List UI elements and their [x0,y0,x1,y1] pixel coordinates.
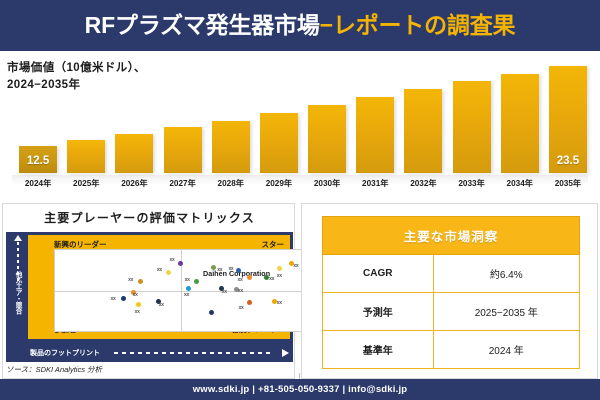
chart-bar[interactable]: 2033年 [453,81,491,173]
chart-bar[interactable]: 2029年 [260,113,298,173]
chart-bar[interactable]: 2027年 [164,127,202,173]
footer-bar: www.sdki.jp | +81-505-050-9337 | info@sd… [0,379,600,400]
bar-slot: 2033年 [453,81,491,173]
matrix-data-point-label: xx [277,273,282,279]
insights-row: CAGR約6.4% [323,255,580,293]
page-title-accent: −レポートの調査果 [320,12,516,38]
bar-slot: 2028年 [212,121,250,173]
matrix-data-point-label: xx [239,305,244,311]
chart-bar[interactable]: 2030年 [308,105,346,173]
chart-bar[interactable]: 23.52035年 [549,66,587,173]
bar-category-label: 2033年 [448,177,496,189]
source-note: ソース：SDKI Analytics 分析 [6,364,102,375]
insights-row: 基準年2024 年 [323,331,580,369]
insights-row-key: CAGR [323,255,434,293]
matrix-data-point[interactable] [209,310,214,315]
header-bar: RFプラズマ発生器市場−レポートの調査果 [0,0,600,51]
bar-chart-plot-area: 12.52024年2025年2026年2027年2028年2029年2030年2… [14,59,592,190]
insights-table-body: CAGR約6.4%予測年2025−2035 年基準年2024 年 [323,255,580,369]
matrix-data-point[interactable] [138,279,143,284]
matrix-quadrant-band: 新興のリーダー スター 参加者 普及プレーヤー Daihen Corporati… [28,235,290,339]
matrix-data-point[interactable] [166,270,171,275]
y-axis-arrow-icon [14,235,22,241]
matrix-frame: 他ふエア・競合 新興のリーダー スター 参加者 普及プレーヤー Daihen C… [6,232,293,362]
bar-value-label: 12.5 [19,155,57,167]
matrix-data-point-label: xx [135,309,140,315]
matrix-data-point-label: xx [238,288,243,294]
chart-bar[interactable]: 2025年 [67,140,105,173]
bar-slot: 2026年 [115,134,153,173]
insights-row-key: 基準年 [323,331,434,369]
matrix-y-axis-label: 他ふエア・競合 [12,242,25,342]
matrix-data-point-label: xx [217,267,222,273]
bar-slot: 2027年 [164,127,202,173]
matrix-data-point[interactable] [194,279,199,284]
insights-table: 主要な市場洞察 CAGR約6.4%予測年2025−2035 年基準年2024 年 [322,216,580,369]
matrix-title: 主要プレーヤーの評価マトリックス [3,209,296,226]
insights-table-title: 主要な市場洞察 [323,217,580,255]
key-market-insights-panel: 主要な市場洞察 CAGR約6.4%予測年2025−2035 年基準年2024 年 [301,203,598,379]
insights-row-value: 2024 年 [433,331,580,369]
matrix-data-point-label: xx [133,292,138,298]
matrix-data-point-label: xx [111,296,116,302]
matrix-data-point-label: xx [238,277,243,283]
bar-category-label: 2031年 [351,177,399,189]
insights-row: 予測年2025−2035 年 [323,293,580,331]
matrix-data-point[interactable] [277,266,282,271]
player-matrix-panel: 主要プレーヤーの評価マトリックス 他ふエア・競合 新興のリーダー スター 参加者… [2,203,295,379]
matrix-data-point[interactable] [178,261,183,266]
matrix-data-point-label: xx [222,289,227,295]
bar-category-label: 2026年 [110,177,158,189]
page-title: RFプラズマ発生器市場−レポートの調査果 [85,14,516,37]
chart-bar[interactable]: 2034年 [501,74,539,173]
chart-bar[interactable]: 12.52024年 [19,146,57,173]
bar-category-label: 2030年 [303,177,351,189]
footer-contact-text[interactable]: www.sdki.jp | +81-505-050-9337 | info@sd… [193,384,408,395]
page-title-primary: RFプラズマ発生器市場 [85,12,320,38]
matrix-data-point-label: xx [277,300,282,306]
chart-bar[interactable]: 2032年 [404,89,442,173]
insights-row-value: 約6.4% [433,255,580,293]
matrix-data-point[interactable] [136,302,141,307]
bar-category-label: 2028年 [207,177,255,189]
bar-category-label: 2032年 [399,177,447,189]
matrix-data-point-label: xx [159,302,164,308]
bar-category-label: 2025年 [62,177,110,189]
bar-category-label: 2024年 [14,177,62,189]
matrix-data-point-label: xx [228,266,233,272]
x-axis-dashed-line [114,352,274,354]
bar-category-label: 2027年 [159,177,207,189]
bar-slot: 12.52024年 [19,146,57,173]
bar-slot: 23.52035年 [549,66,587,173]
matrix-data-point-label: xx [169,257,174,263]
bar-value-label: 23.5 [549,155,587,167]
bar-category-label: 2029年 [255,177,303,189]
matrix-data-point-label: xx [185,277,190,283]
bar-slot: 2031年 [356,97,394,173]
insights-row-key: 予測年 [323,293,434,331]
bar-slot: 2025年 [67,140,105,173]
matrix-data-point-label: xx [184,292,189,298]
bar-category-label: 2035年 [544,177,592,189]
bar-slot: 2030年 [308,105,346,173]
matrix-data-point-label: xx [269,276,274,282]
bar-slot: 2034年 [501,74,539,173]
matrix-data-point-label: xx [128,277,133,283]
matrix-data-point-label: xx [293,263,298,269]
lower-section: 主要プレーヤーの評価マトリックス 他ふエア・競合 新興のリーダー スター 参加者… [0,201,600,379]
chart-bar[interactable]: 2026年 [115,134,153,173]
bar-category-label: 2034年 [496,177,544,189]
matrix-data-point-label: xx [157,267,162,273]
quadrant-divider-horizontal [55,291,307,292]
insights-header-row: 主要な市場洞察 [323,217,580,255]
x-axis-arrow-icon [282,349,289,357]
matrix-data-point[interactable] [121,296,126,301]
market-value-chart-panel: 市場価値（10億米ドル）、 2024−2035年 12.52024年2025年2… [0,51,600,201]
bar-slot: 2032年 [404,89,442,173]
insights-row-value: 2025−2035 年 [433,293,580,331]
insights-table-head: 主要な市場洞察 [323,217,580,255]
chart-bar[interactable]: 2028年 [212,121,250,173]
matrix-x-axis-label: 製品のフットプリント [30,348,100,358]
matrix-data-point[interactable] [247,300,252,305]
chart-bar[interactable]: 2031年 [356,97,394,173]
matrix-plot-area: Daihen Corporation xxxxxxxxxxxxxxxxxxxxx… [54,249,308,332]
matrix-data-point[interactable] [247,275,252,280]
bar-slot: 2029年 [260,113,298,173]
